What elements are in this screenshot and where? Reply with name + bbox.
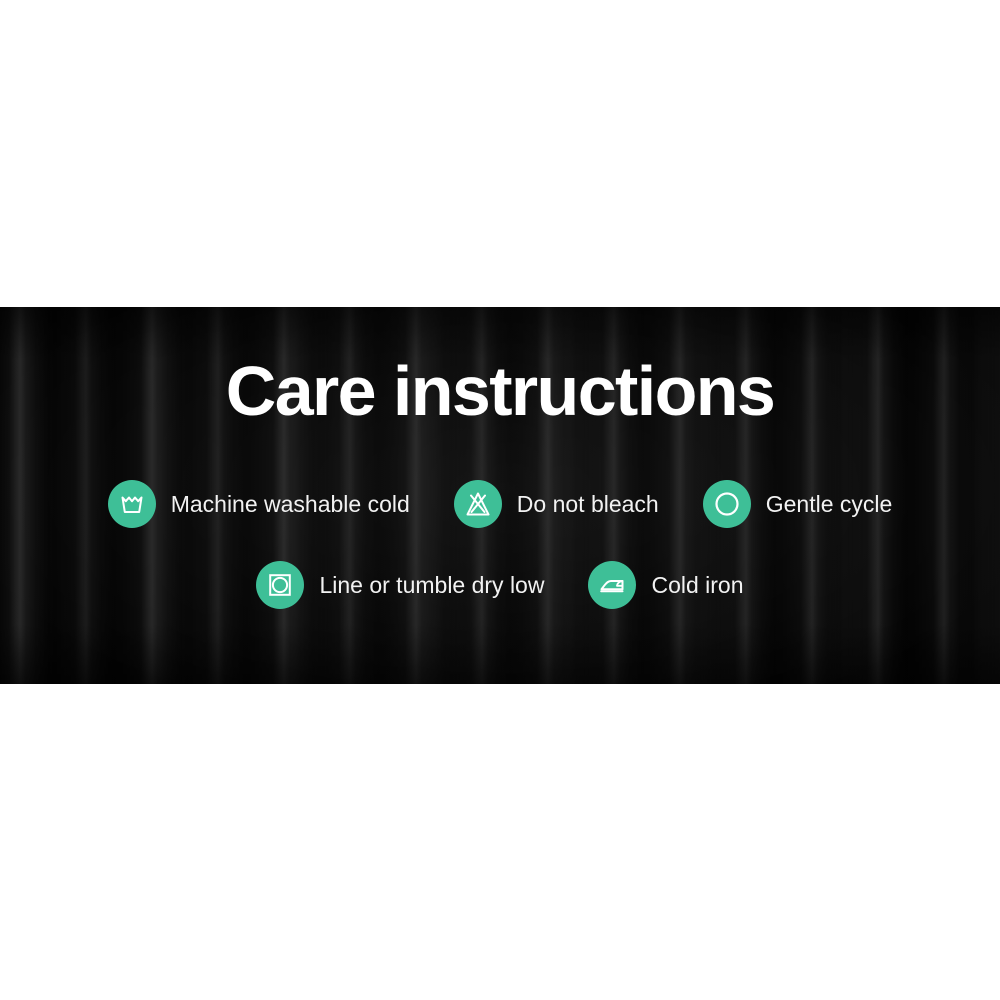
care-item-label: Cold iron [651, 574, 743, 597]
care-instructions-banner: Care instructions Machine washable cold [0, 307, 1000, 684]
care-item-label: Line or tumble dry low [319, 574, 544, 597]
do-not-bleach-icon [454, 480, 502, 528]
banner-content: Care instructions Machine washable cold [0, 307, 1000, 684]
iron-icon [588, 561, 636, 609]
care-item-machine-washable-cold: Machine washable cold [108, 480, 410, 528]
wash-tub-icon [108, 480, 156, 528]
care-item-cold-iron: Cold iron [588, 561, 743, 609]
page-title: Care instructions [0, 356, 1000, 426]
product-care-banner-page: Care instructions Machine washable cold [0, 0, 1000, 1000]
care-item-label: Do not bleach [517, 493, 659, 516]
circle-gentle-cycle-icon [703, 480, 751, 528]
care-item-do-not-bleach: Do not bleach [454, 480, 659, 528]
care-item-label: Gentle cycle [766, 493, 893, 516]
care-item-label: Machine washable cold [171, 493, 410, 516]
care-item-gentle-cycle: Gentle cycle [703, 480, 893, 528]
tumble-dry-icon [256, 561, 304, 609]
care-item-line-or-tumble-dry-low: Line or tumble dry low [256, 561, 544, 609]
care-row-1: Machine washable cold Do not bleach [0, 480, 1000, 528]
care-row-2: Line or tumble dry low Cold iron [0, 561, 1000, 609]
